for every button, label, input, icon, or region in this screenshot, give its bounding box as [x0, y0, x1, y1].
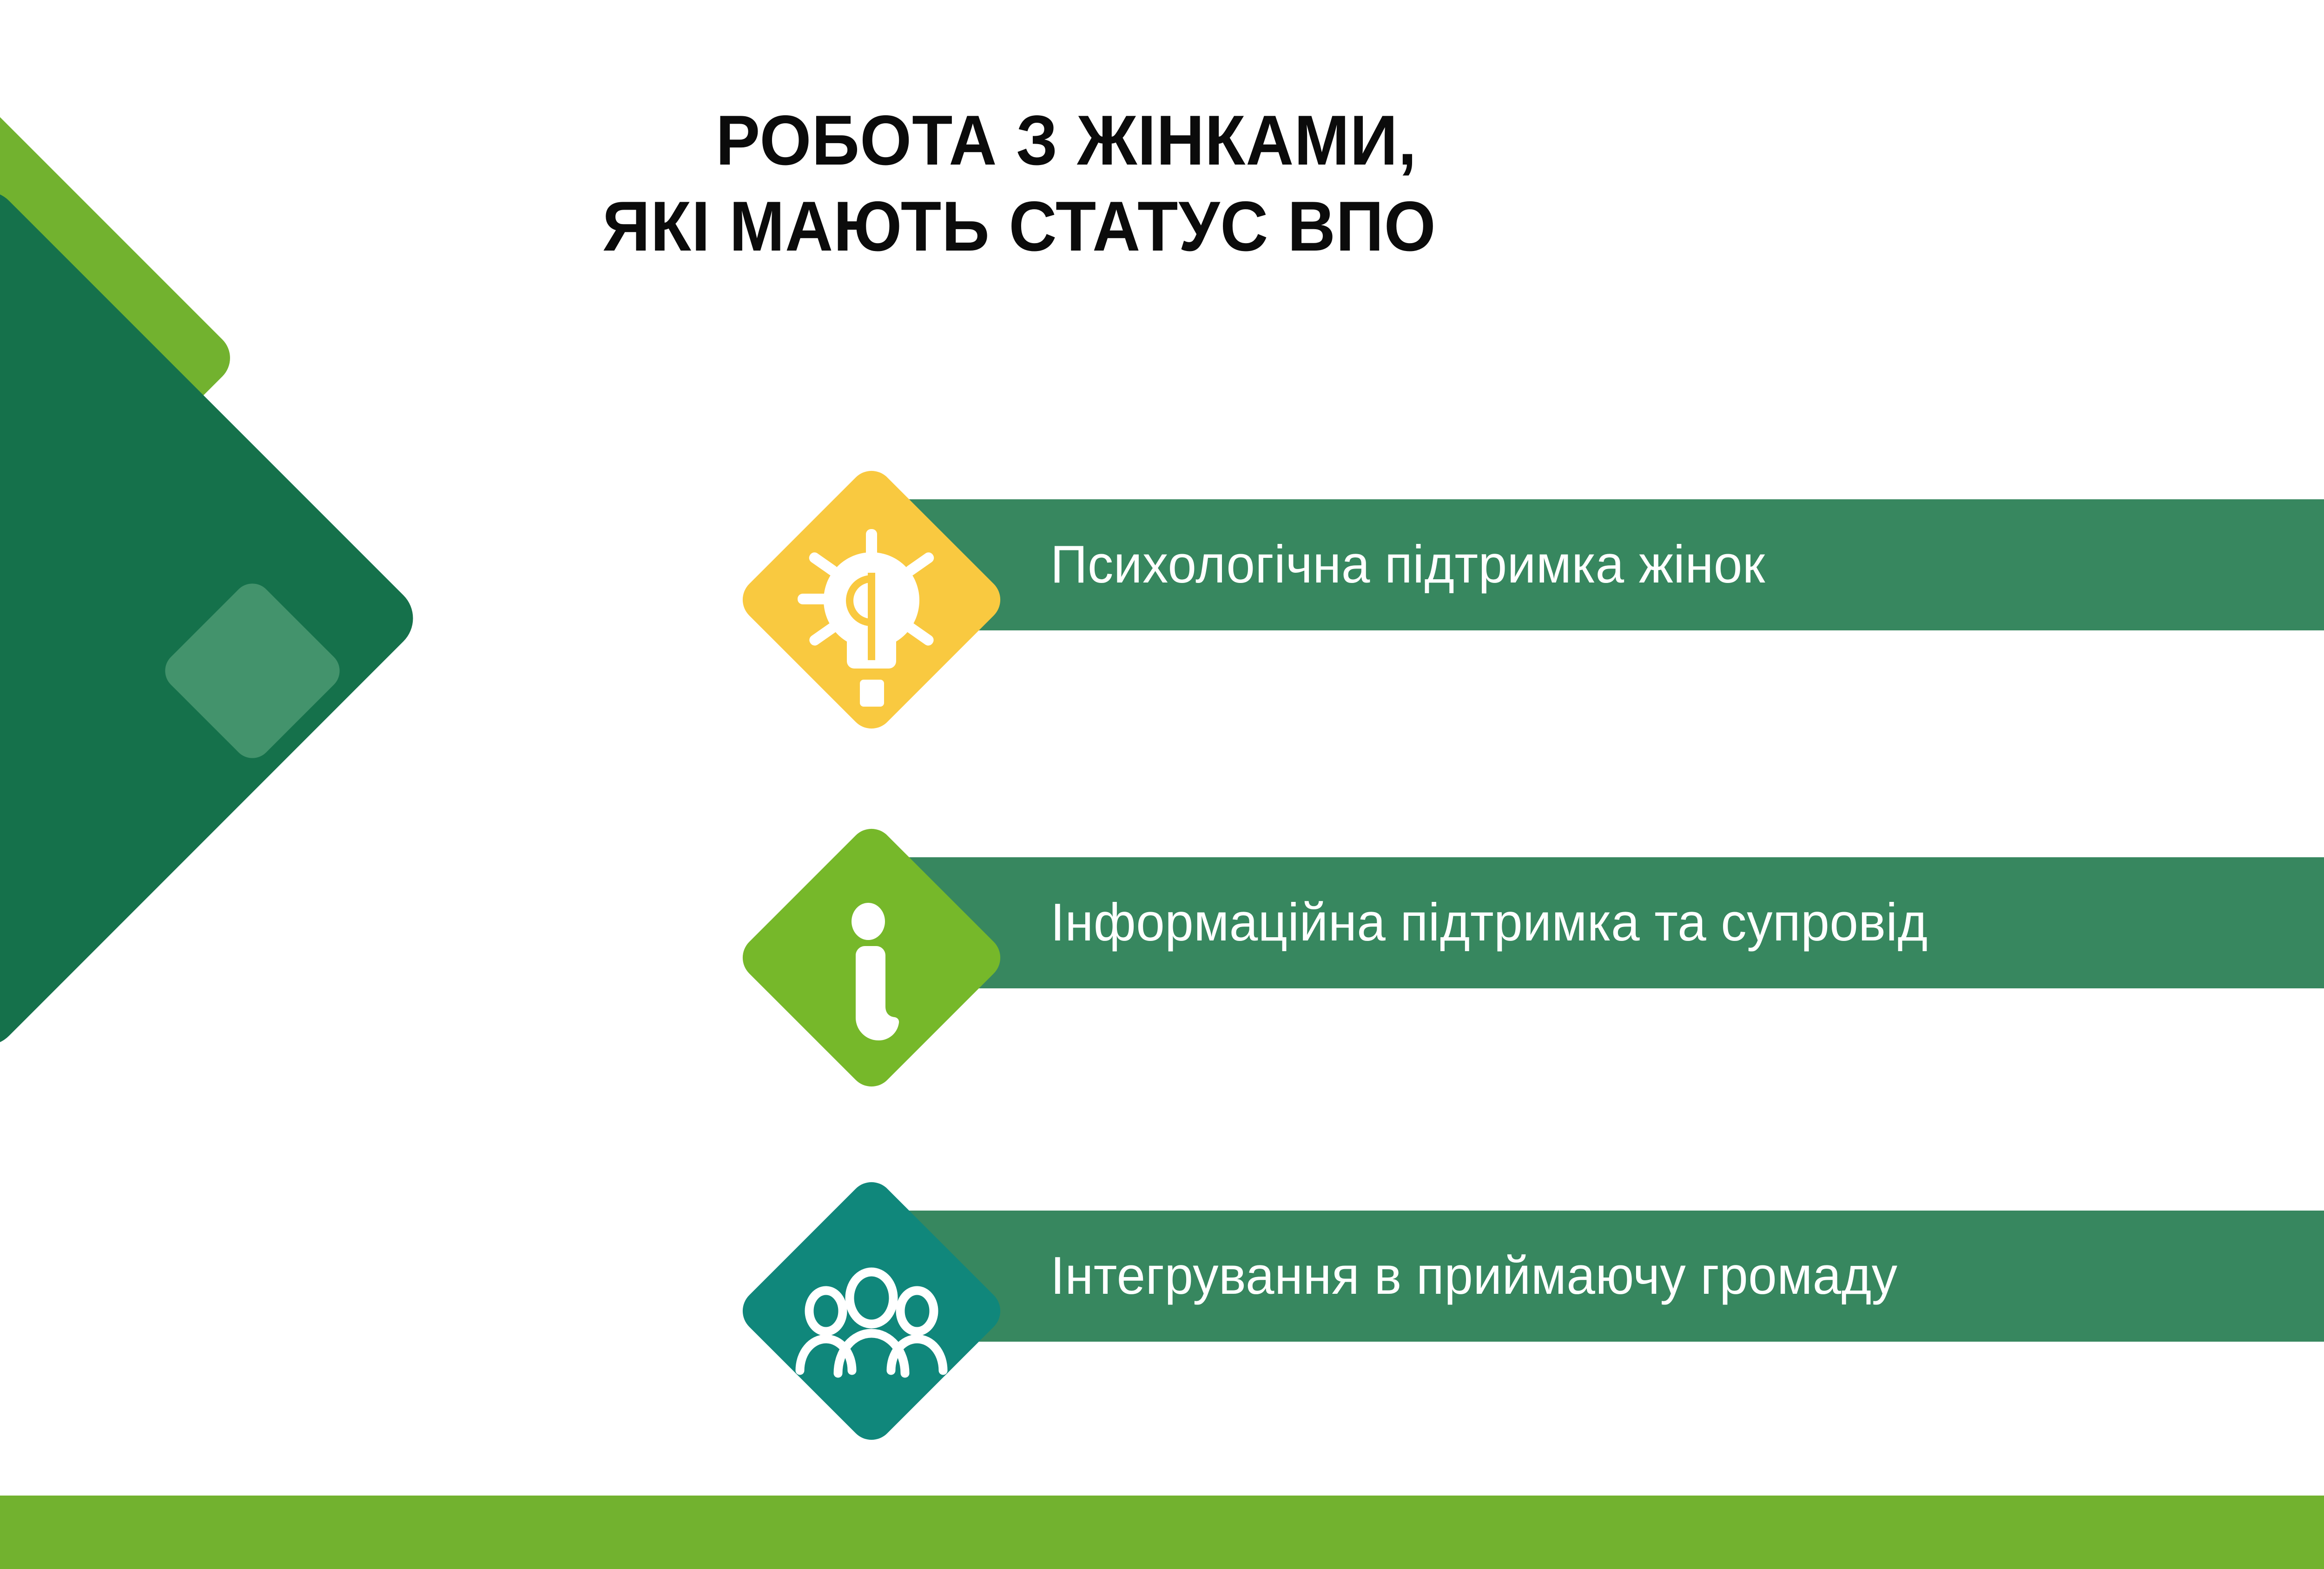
group-people-icon — [737, 1176, 1006, 1446]
service-rows-list: Психологічна підтримка жінок — [0, 0, 2324, 1569]
row-label: Психологічна підтримка жінок — [1050, 538, 1765, 591]
bottom-accent-bar — [0, 1496, 2324, 1569]
row-badge-psychological-support[interactable] — [737, 465, 1006, 735]
row-bar-psychological-support: Психологічна підтримка жінок — [869, 499, 2324, 630]
row-label: Інтегрування в приймаючу громаду — [1050, 1250, 1898, 1303]
list-item[interactable]: Інтегрування в приймаючу громаду — [0, 1176, 2324, 1446]
slide-canvas: РОБОТА З ЖІНКАМИ, ЯКІ МАЮТЬ СТАТУС ВПО П… — [0, 0, 2324, 1569]
row-label: Інформаційна підтримка та супровід — [1050, 896, 1928, 949]
row-badge-community-integration[interactable] — [737, 1176, 1006, 1446]
info-icon — [737, 823, 1006, 1092]
row-badge-information-support[interactable] — [737, 823, 1006, 1092]
row-bar-information-support: Інформаційна підтримка та супровід — [869, 857, 2324, 988]
list-item[interactable]: Інформаційна підтримка та супровід — [0, 823, 2324, 1092]
lightbulb-icon — [737, 465, 1006, 735]
list-item[interactable]: Психологічна підтримка жінок — [0, 465, 2324, 735]
row-bar-community-integration: Інтегрування в приймаючу громаду — [869, 1211, 2324, 1342]
